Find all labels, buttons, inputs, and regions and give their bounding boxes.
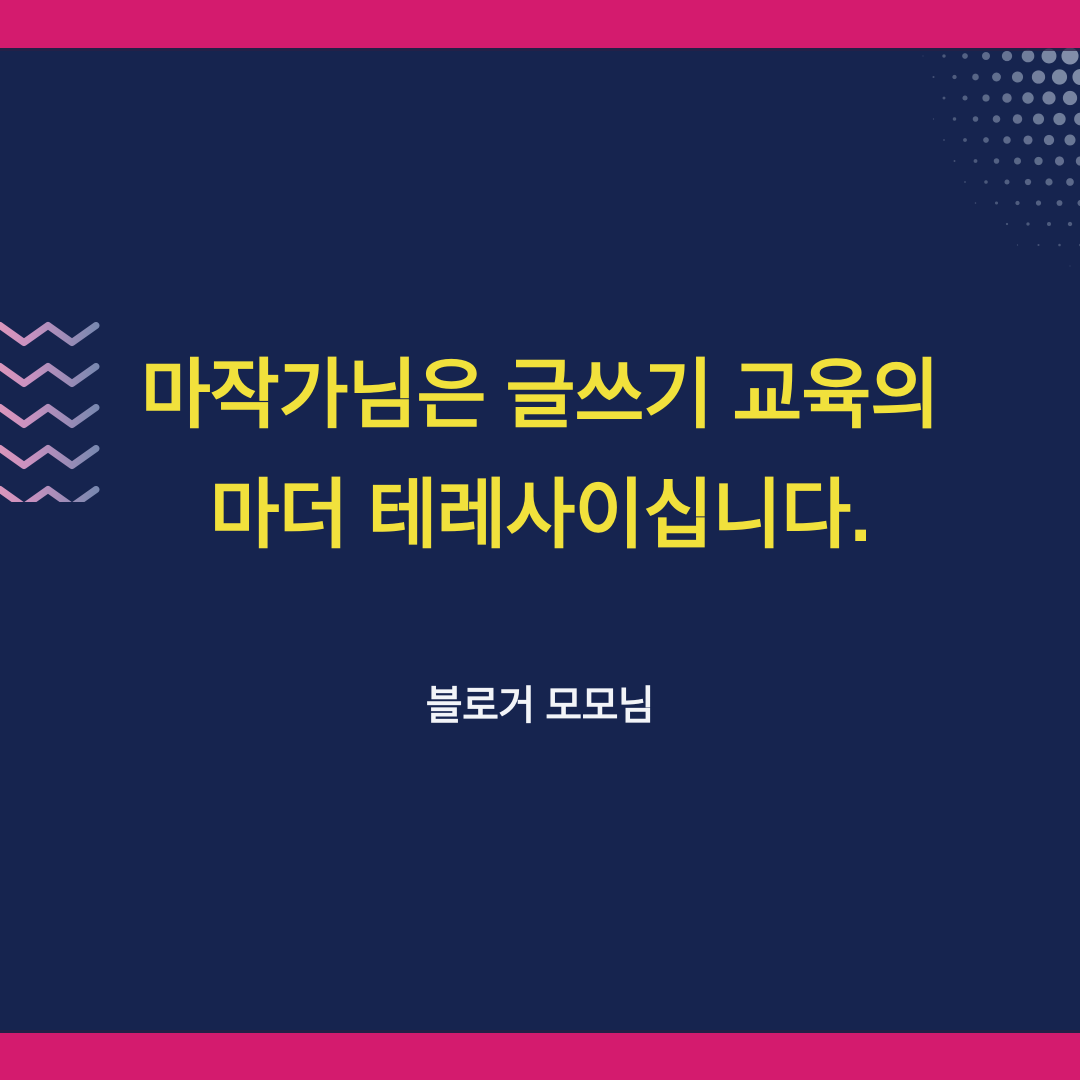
quote-headline: 마작가님은 글쓰기 교육의 마더 테레사이십니다.: [0, 336, 1080, 576]
top-bar-seam: [0, 48, 1080, 51]
quote-attribution: 블로거 모모님: [0, 678, 1080, 734]
quote-card: 마작가님은 글쓰기 교육의 마더 테레사이십니다. 블로거 모모님: [0, 0, 1080, 1080]
bottom-accent-bar: [0, 1033, 1080, 1080]
text-content: 마작가님은 글쓰기 교육의 마더 테레사이십니다. 블로거 모모님: [0, 0, 1080, 1080]
quote-line-2: 마더 테레사이십니다.: [0, 456, 1080, 576]
top-accent-bar: [0, 0, 1080, 48]
quote-line-1: 마작가님은 글쓰기 교육의: [0, 336, 1080, 456]
